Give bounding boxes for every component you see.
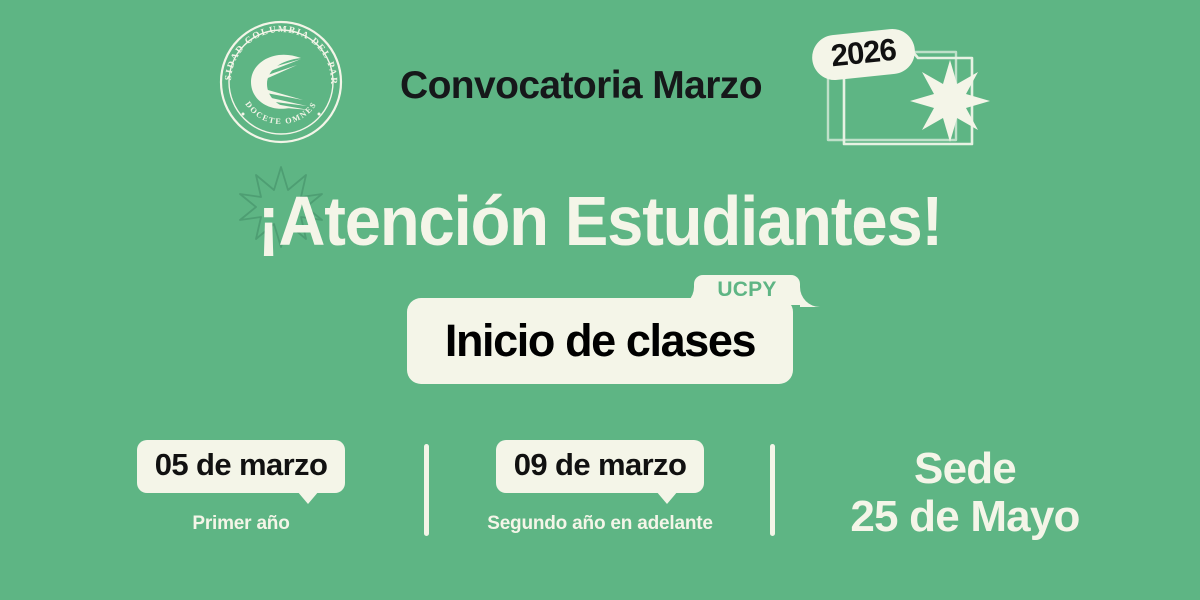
date-caption: Primer año: [192, 513, 289, 535]
divider-second: [770, 444, 775, 536]
date-block-primer-ano: 05 de marzo Primer año: [110, 440, 372, 535]
svg-text:UNIVERSIDAD COLUMBIA DEL PARAG: UNIVERSIDAD COLUMBIA DEL PARAGUAY: [217, 18, 338, 86]
university-seal-logo: UNIVERSIDAD COLUMBIA DEL PARAGUAY DOCETE…: [217, 18, 345, 146]
page-title: Convocatoria Marzo: [400, 58, 800, 114]
headline-text: ¡Atención Estudiantes!: [258, 181, 942, 261]
card-title: Inicio de clases: [445, 315, 755, 367]
tab-notch-right: [800, 287, 820, 307]
svg-text:DOCETE OMNES: DOCETE OMNES: [243, 100, 318, 126]
venue-line-2: 25 de Mayo: [820, 493, 1110, 541]
divider-first: [424, 444, 429, 536]
date-bubble: 09 de marzo: [496, 440, 705, 493]
date-caption: Segundo año en adelante: [487, 513, 713, 535]
headline-container: ¡Atención Estudiantes!: [0, 178, 1200, 264]
poster-canvas: UNIVERSIDAD COLUMBIA DEL PARAGUAY DOCETE…: [0, 0, 1200, 600]
venue-line-1: Sede: [820, 445, 1110, 493]
venue-block: Sede 25 de Mayo: [820, 445, 1110, 540]
inicio-de-clases-card: Inicio de clases: [407, 298, 793, 384]
date-block-segundo-ano: 09 de marzo Segundo año en adelante: [455, 440, 745, 535]
date-bubble: 05 de marzo: [137, 440, 346, 493]
